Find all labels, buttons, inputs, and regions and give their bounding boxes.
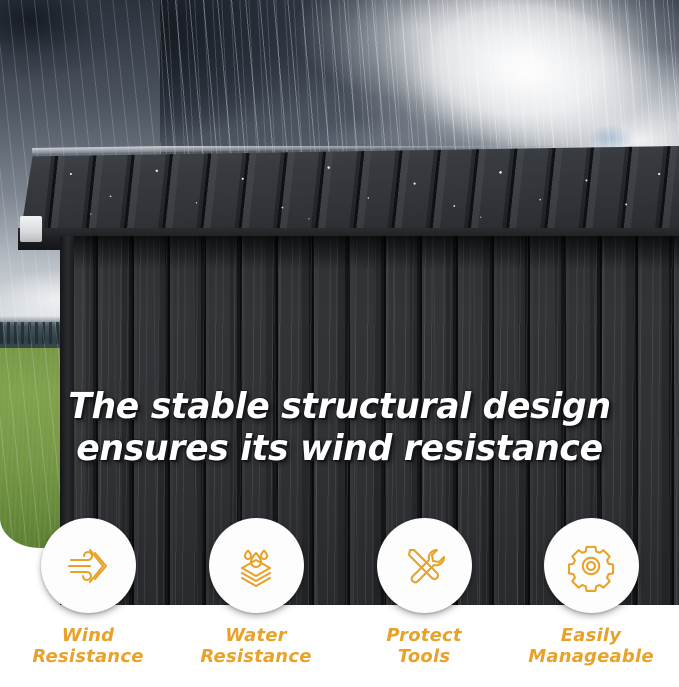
feature-label: Water Resistance bbox=[171, 625, 341, 667]
feature-label-line-2: Manageable bbox=[506, 646, 676, 667]
feature-label-line-2: Tools bbox=[339, 646, 509, 667]
feature-list: Wind Resistance Water bbox=[0, 518, 679, 687]
feature-item-water-resistance[interactable]: Water Resistance bbox=[171, 518, 341, 667]
feature-icon-circle bbox=[209, 518, 304, 613]
feature-label-line-1: Protect bbox=[339, 625, 509, 646]
feature-label: Easily Manageable bbox=[506, 625, 676, 667]
feature-label-line-2: Resistance bbox=[3, 646, 173, 667]
feature-label-line-1: Wind bbox=[3, 625, 173, 646]
wind-resistance-icon bbox=[62, 540, 114, 592]
feature-label-line-1: Water bbox=[171, 625, 341, 646]
wall-top-shadow bbox=[60, 236, 679, 270]
product-feature-banner: The stable structural design ensures its… bbox=[0, 0, 679, 687]
shed-metal-roof bbox=[18, 146, 679, 250]
protect-tools-icon bbox=[398, 540, 450, 592]
roof-corner-bracket bbox=[20, 216, 42, 242]
feature-icon-circle bbox=[41, 518, 136, 613]
headline: The stable structural design ensures its… bbox=[14, 386, 666, 470]
feature-item-protect-tools[interactable]: Protect Tools bbox=[339, 518, 509, 667]
feature-item-wind-resistance[interactable]: Wind Resistance bbox=[3, 518, 173, 667]
water-resistance-icon bbox=[230, 540, 282, 592]
feature-icon-circle bbox=[377, 518, 472, 613]
feature-label: Protect Tools bbox=[339, 625, 509, 667]
easily-manageable-icon bbox=[565, 540, 617, 592]
feature-icon-circle bbox=[544, 518, 639, 613]
feature-label: Wind Resistance bbox=[3, 625, 173, 667]
headline-line-1: The stable structural design bbox=[14, 386, 666, 428]
feature-label-line-1: Easily bbox=[506, 625, 676, 646]
headline-line-2: ensures its wind resistance bbox=[14, 428, 666, 470]
feature-item-easily-manageable[interactable]: Easily Manageable bbox=[506, 518, 676, 667]
roof-water-droplets bbox=[18, 150, 679, 230]
feature-label-line-2: Resistance bbox=[171, 646, 341, 667]
